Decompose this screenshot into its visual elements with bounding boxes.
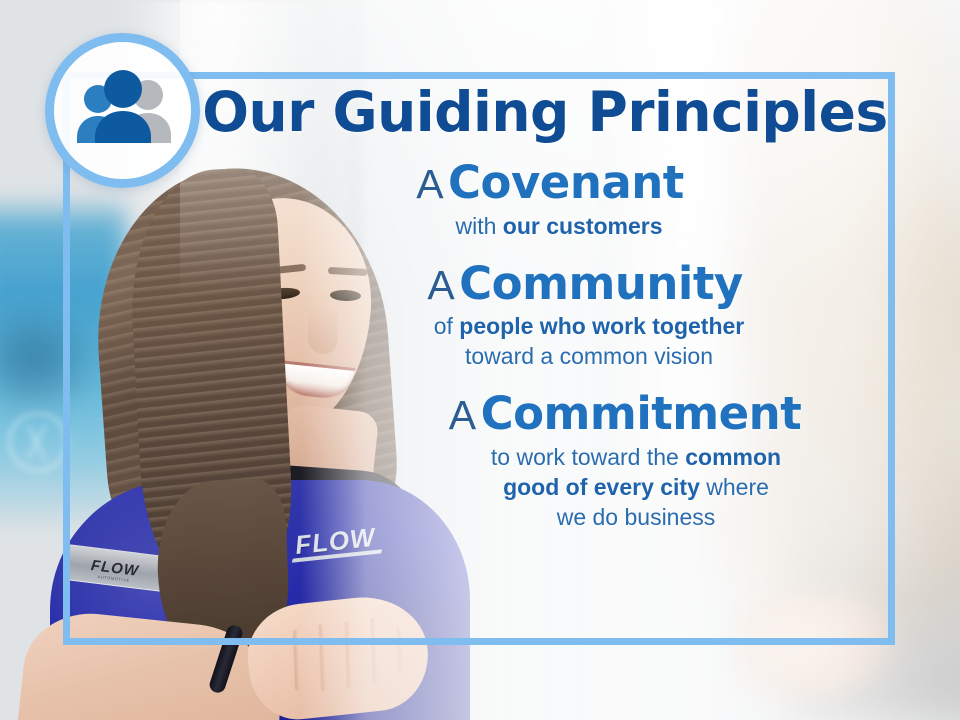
- principle-article: A: [449, 392, 476, 438]
- principle-subtext: of people who work together toward a com…: [288, 312, 890, 372]
- subtext-run-bold: people who work together: [459, 313, 744, 339]
- principle-heading: A Commitment: [360, 390, 890, 438]
- principle-article: A: [427, 262, 454, 308]
- subtext-run-bold: our customers: [503, 213, 663, 239]
- subtext-run: where: [700, 474, 769, 500]
- principle-heading: A Covenant: [210, 159, 890, 207]
- subtext-run-bold: common: [685, 444, 781, 470]
- subtext-run: to work toward the: [491, 444, 685, 470]
- people-group-icon: [69, 69, 177, 153]
- subtext-run: toward a common vision: [465, 343, 713, 369]
- customer-hand-blurred: [730, 590, 920, 720]
- principles-text-block: Our Guiding Principles A Covenant with o…: [200, 84, 890, 533]
- page-title: Our Guiding Principles: [200, 84, 890, 141]
- subtext-run: with: [455, 213, 502, 239]
- principle-keyword: Community: [459, 257, 743, 310]
- principle-heading: A Community: [280, 260, 890, 308]
- subtext-run: we do business: [557, 504, 716, 530]
- subtext-run-bold: good of every city: [503, 474, 700, 500]
- principle-covenant: A Covenant with our customers: [200, 159, 890, 242]
- principle-commitment: A Commitment to work toward the common g…: [200, 390, 890, 532]
- poster-graphic: FLOW FLOW AUTOMOTIVE: [0, 0, 960, 720]
- people-badge: [45, 33, 200, 188]
- principle-keyword: Covenant: [448, 156, 684, 209]
- principle-article: A: [416, 161, 443, 207]
- principle-community: A Community of people who work together …: [200, 260, 890, 372]
- principle-subtext: to work toward the common good of every …: [382, 443, 890, 533]
- principle-subtext: with our customers: [228, 212, 890, 242]
- subtext-run: of: [434, 313, 460, 339]
- principle-keyword: Commitment: [481, 387, 802, 440]
